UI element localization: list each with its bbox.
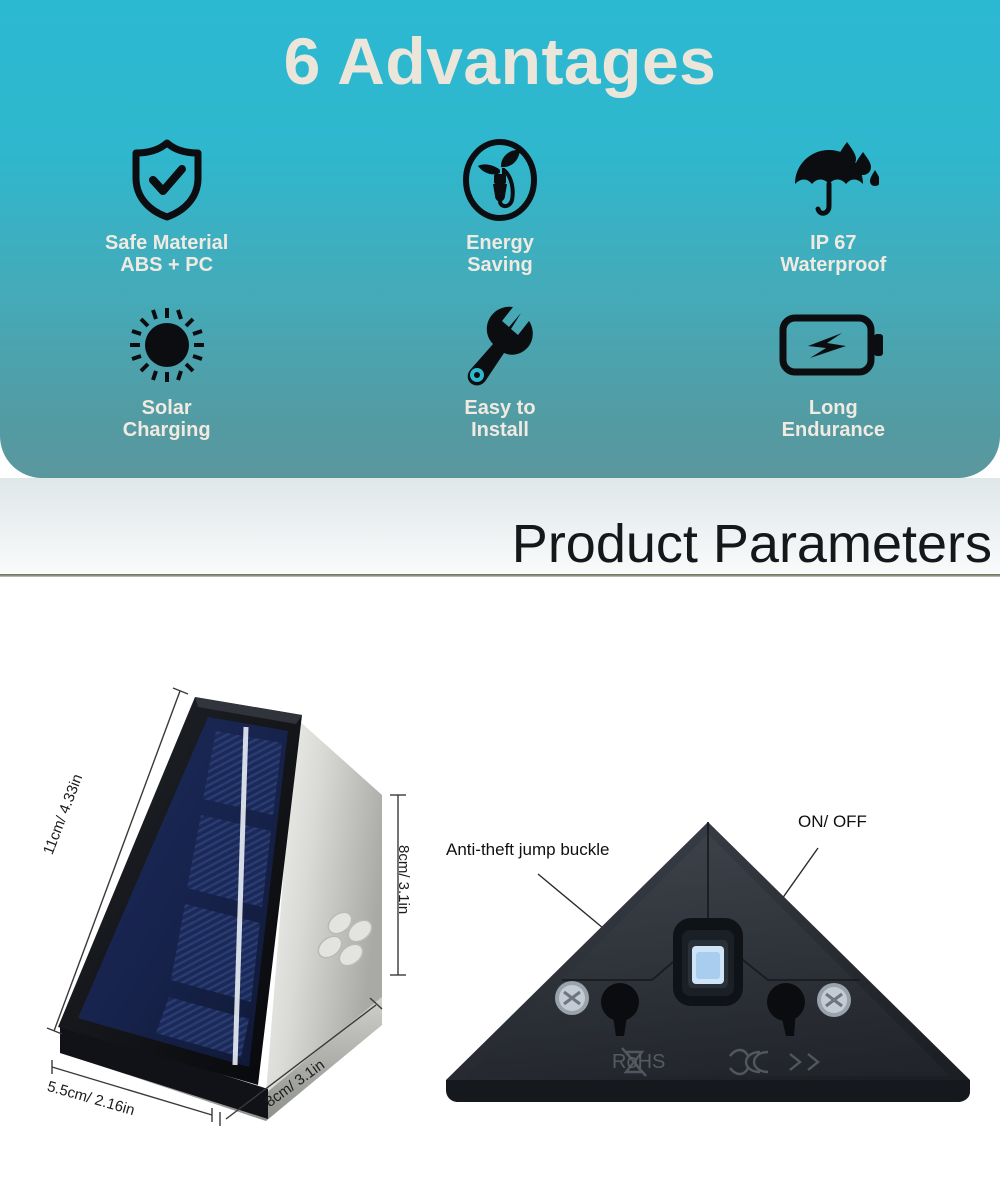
advantage-label: Safe Material ABS + PC	[105, 232, 228, 277]
advantage-label: Long Endurance	[782, 397, 885, 442]
advantage-label: Easy to Install	[464, 397, 535, 442]
advantage-item-waterproof: IP 67 Waterproof	[667, 132, 1000, 297]
battery-bolt-icon	[778, 303, 888, 387]
energy-plug-leaf-icon	[460, 138, 540, 222]
advantage-label: Solar Charging	[123, 397, 211, 442]
advantage-label: IP 67 Waterproof	[780, 232, 886, 277]
advantages-grid: Safe Material ABS + PC Energy Saving	[0, 132, 1000, 462]
wrench-icon	[461, 303, 539, 387]
solar-lamp-perspective-photo: 11cm/ 4.33in 8cm/ 3.1in 5.5cm/ 2.16in 8c…	[30, 675, 450, 1145]
advantage-item-energy-saving: Energy Saving	[333, 132, 666, 297]
anti-theft-callout-label: Anti-theft jump buckle	[446, 840, 609, 860]
sun-icon	[126, 303, 208, 387]
product-parameters-band: Product Parameters	[0, 478, 1000, 575]
on-off-callout-label: ON/ OFF	[798, 812, 867, 832]
advantages-card: 6 Advantages Safe Material ABS + PC	[0, 0, 1000, 478]
shield-check-icon	[128, 138, 206, 222]
advantage-item-easy-install: Easy to Install	[333, 297, 666, 462]
advantage-item-safe-material: Safe Material ABS + PC	[0, 132, 333, 297]
advantage-item-solar-charging: Solar Charging	[0, 297, 333, 462]
page-title: 6 Advantages	[0, 27, 1000, 96]
advantage-item-long-endurance: Long Endurance	[667, 297, 1000, 462]
advantage-label: Energy Saving	[466, 232, 534, 277]
product-photo-area: 11cm/ 4.33in 8cm/ 3.1in 5.5cm/ 2.16in 8c…	[0, 600, 1000, 1200]
umbrella-rain-icon	[787, 138, 879, 222]
solar-lamp-underside-photo: RoHS Anti-theft jump buckle ON/ OFF	[430, 790, 990, 1120]
side-height-dimension-label: 8cm/ 3.1in	[395, 845, 412, 914]
section-title: Product Parameters	[512, 517, 992, 571]
